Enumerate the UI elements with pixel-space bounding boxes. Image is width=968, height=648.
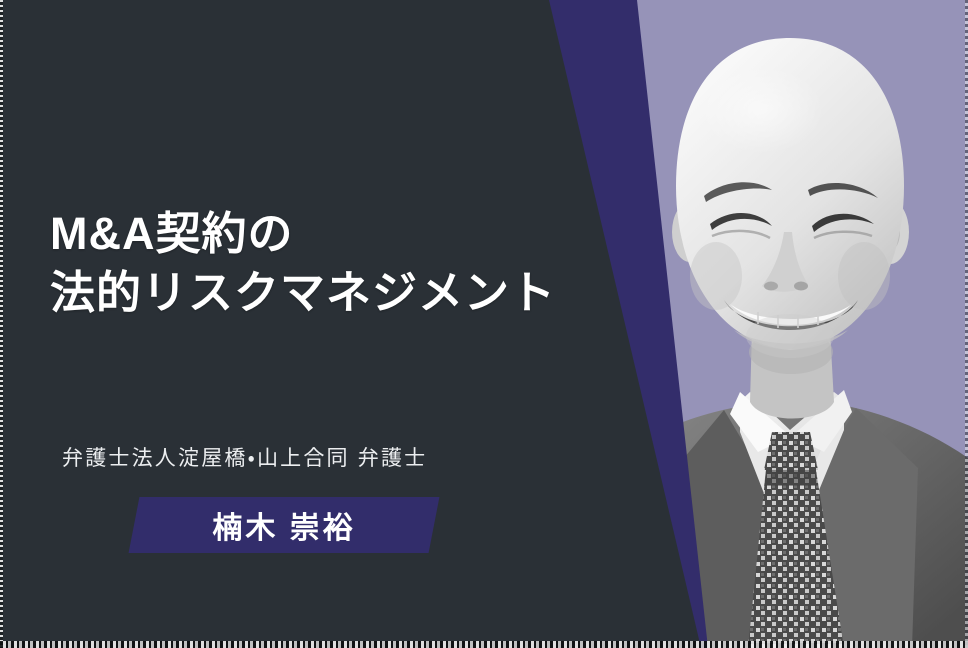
bottom-edge-artifact	[0, 641, 968, 648]
speaker-name-label: 楠木 崇裕	[134, 497, 434, 553]
speaker-affiliation: 弁護士法人淀屋橋・山上合同 弁護士	[62, 442, 427, 472]
content-layer: M&A契約の 法的リスクマネジメント 弁護士法人淀屋橋・山上合同 弁護士 楠木 …	[0, 0, 968, 648]
left-edge-artifact	[0, 0, 3, 648]
seminar-title-card: M&A契約の 法的リスクマネジメント 弁護士法人淀屋橋・山上合同 弁護士 楠木 …	[0, 0, 968, 648]
title-line-2: 法的リスクマネジメント	[50, 263, 556, 322]
title-line-1: M&A契約の	[50, 204, 556, 263]
page-title: M&A契約の 法的リスクマネジメント	[50, 204, 556, 323]
